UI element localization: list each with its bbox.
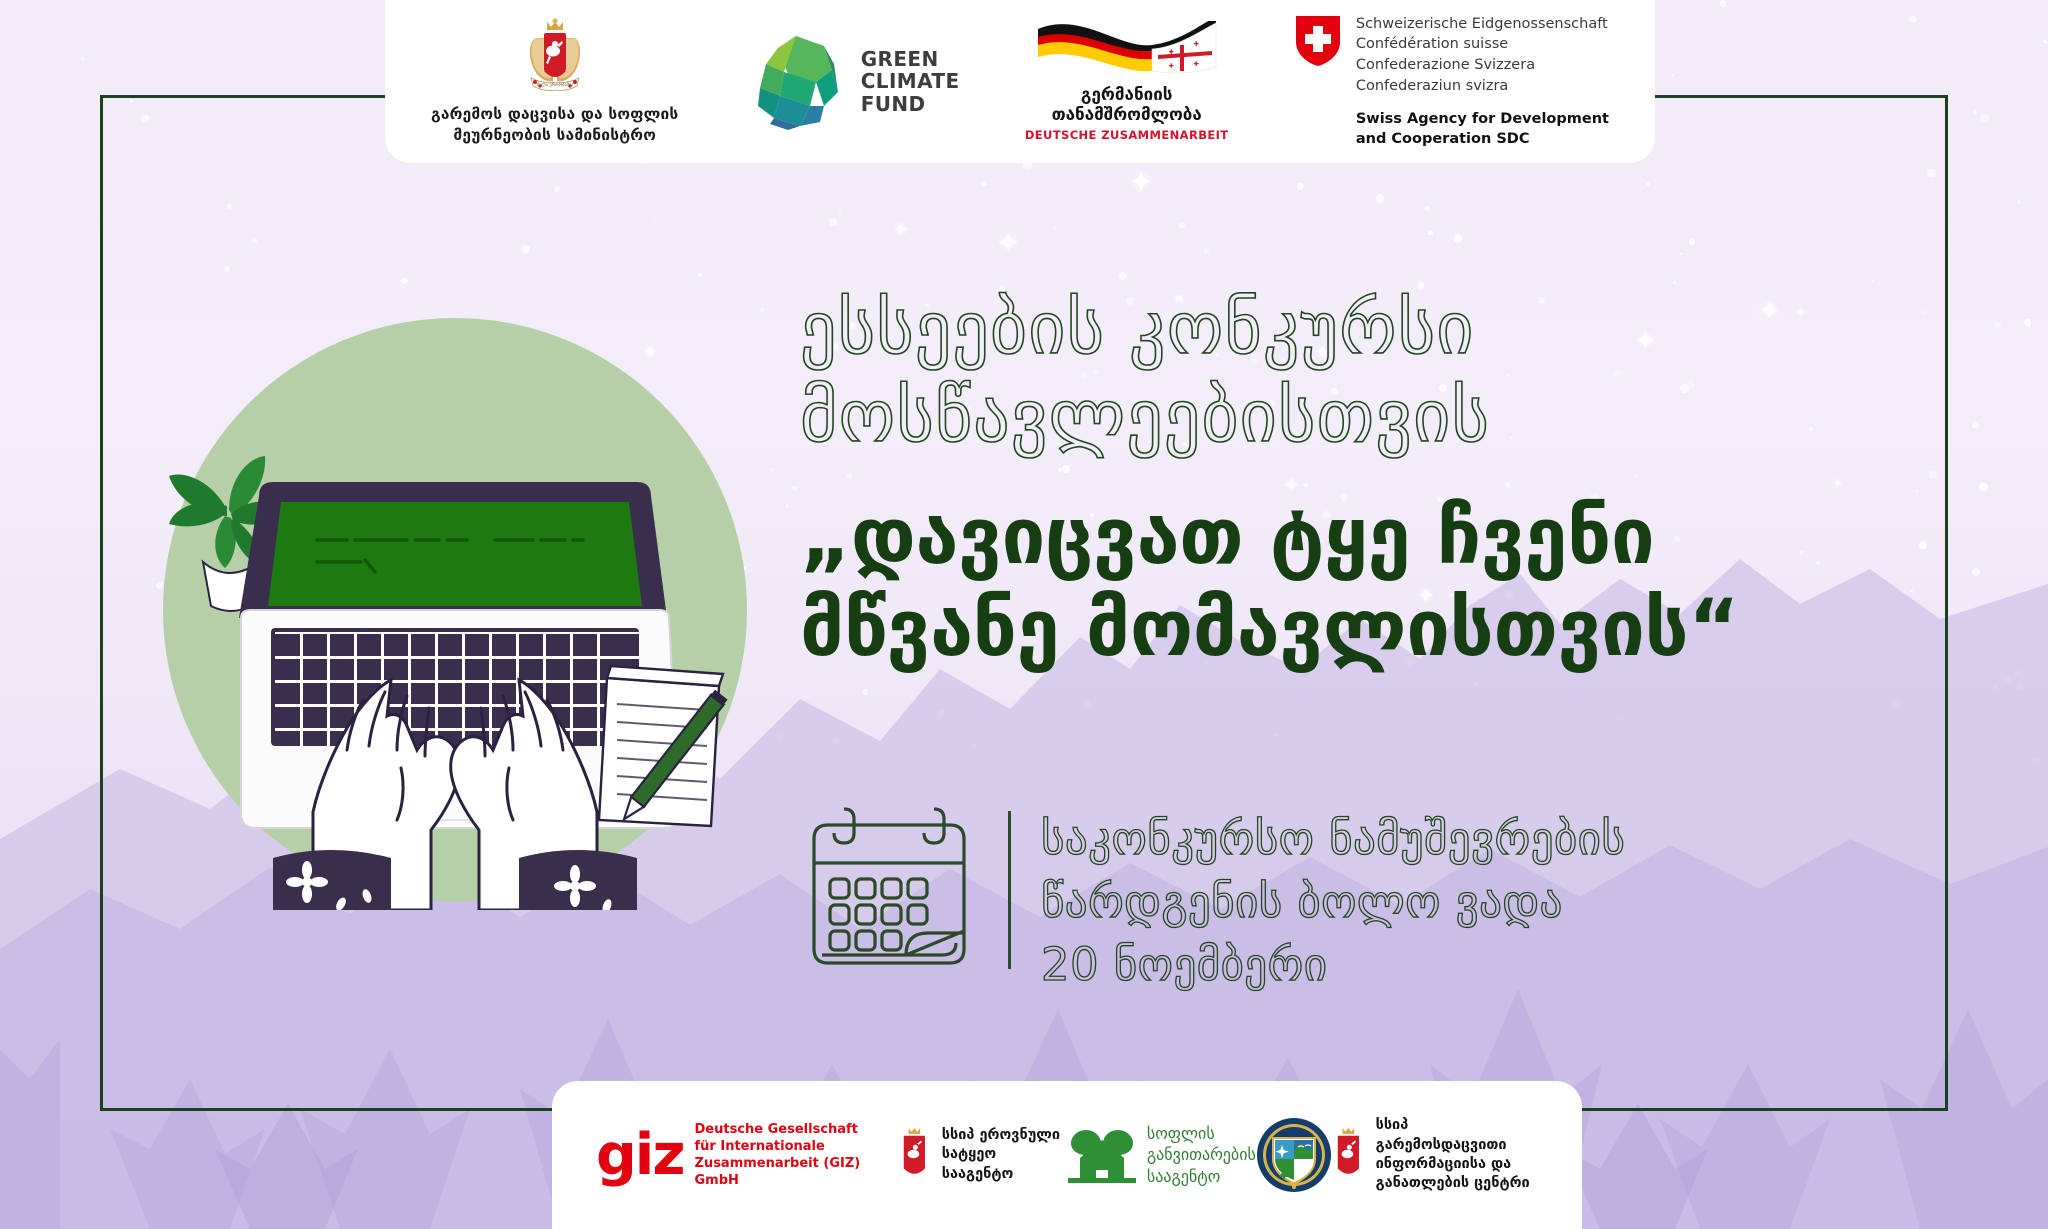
person-typing-on-laptop-illustration — [155, 310, 755, 910]
partner-logo-giz: giz Deutsche Gesellschaft für Internatio… — [596, 1121, 898, 1190]
swiss-line-de: Schweizerische Eidgenossenschaft — [1356, 14, 1609, 35]
german-cooperation-label-line1: გერმანიის — [1052, 85, 1202, 105]
swiss-agency-line2: and Cooperation SDC — [1356, 129, 1609, 149]
headline-text: „დავიცვათ ტყე ჩვენი მწვანე მომავლისთვის“ — [800, 491, 1940, 675]
german-cooperation-label-de: DEUTSCHE ZUSAMMENARBEIT — [1025, 128, 1229, 142]
trees-house-icon — [1068, 1126, 1136, 1184]
swiss-agency-name: Swiss Agency for Development and Coopera… — [1356, 109, 1609, 149]
deadline-line-2: წარდგენის ბოლო ვადა — [1041, 870, 1625, 933]
gcf-globe-icon — [744, 30, 848, 134]
german-cooperation-label-line2: თანამშრომლობა — [1052, 105, 1202, 125]
rda-line2: განვითარების — [1147, 1144, 1256, 1165]
svg-text:ძალა ერთობაშია: ძალა ერთობაშია — [536, 81, 574, 88]
eiec-line3: განათლების ცენტრი — [1376, 1174, 1538, 1193]
deadline-line-3: 20 ნოემბერი — [1041, 933, 1625, 996]
star-dot — [1720, 0, 1727, 7]
calendar-icon — [800, 805, 978, 977]
kicker-line-1: ესსეების კონკურსი — [800, 285, 1940, 373]
giz-sub-line3: Zusammenarbeit (GIZ) GmbH — [695, 1155, 899, 1189]
partner-label-ministry: გარემოს დაცვისა და სოფლისმეურნეობის სამი… — [431, 104, 678, 145]
star-dot — [1909, 16, 1917, 24]
deadline-text: საკონკურსო ნამუშევრების წარდგენის ბოლო ვ… — [1041, 805, 1625, 996]
partner-logo-environmental-information-education-centre: სსიპ გარემოსდაცვითი ინფორმაციისა და განა… — [1332, 1116, 1538, 1194]
swiss-line-fr: Confédération suisse — [1356, 34, 1609, 55]
swiss-line-rm: Confederaziun svizra — [1356, 76, 1609, 97]
national-forestry-agency-label: სსიპ ეროვნული სატყეო სააგენტო — [942, 1126, 1068, 1184]
georgia-coat-of-arms-icon: ძალა ერთობაშია — [523, 18, 587, 96]
gcf-wordmark: GREEN CLIMATE FUND — [861, 48, 960, 115]
giz-wordmark: giz — [596, 1132, 684, 1179]
partner-logo-german-cooperation: გერმანიის თანამშრომლობა DEUTSCHE ZUSAMME… — [1025, 21, 1229, 142]
eiec-label: სსიპ გარემოსდაცვითი ინფორმაციისა და განა… — [1376, 1116, 1538, 1194]
round-blue-seal-emblem-icon — [1256, 1117, 1332, 1193]
gcf-line-2: CLIMATE — [861, 70, 960, 92]
deadline-line-1: საკონკურსო ნამუშევრების — [1041, 807, 1625, 870]
notepad-and-pencil — [599, 666, 728, 826]
kicker-text: ესსეების კონკურსი მოსწავლეებისთვის — [800, 285, 1940, 461]
star-dot — [1994, 322, 2000, 328]
gcf-line-3: FUND — [861, 93, 960, 115]
partner-logo-rural-development-agency: სოფლის განვითარების სააგენტო — [1068, 1123, 1256, 1187]
giz-sub-line2: für Internationale — [695, 1138, 899, 1155]
star-dot — [80, 56, 85, 61]
headline-line-2: მწვანე მომავლისთვის“ — [800, 583, 1940, 675]
swiss-line-it: Confederazione Svizzera — [1356, 55, 1609, 76]
rda-line1: სოფლის — [1147, 1123, 1256, 1144]
headline-line-1: „დავიცვათ ტყე ჩვენი — [800, 491, 1940, 583]
swiss-cross-shield-icon — [1294, 14, 1342, 68]
star-dot — [2024, 319, 2031, 326]
star-dot — [1973, 110, 1977, 114]
partner-logo-ministry-of-environment-georgia: ძალა ერთობაშია გარემოს დაცვისა და სოფლის… — [431, 18, 678, 145]
rda-line3: სააგენტო — [1147, 1166, 1256, 1187]
georgia-shield-emblem-icon-2 — [1332, 1126, 1365, 1184]
eiec-line2: ინფორმაციისა და — [1376, 1155, 1538, 1174]
deadline-block: საკონკურსო ნამუშევრების წარდგენის ბოლო ვ… — [800, 805, 1625, 996]
star-dot — [1980, 114, 1989, 123]
gcf-line-1: GREEN — [861, 48, 960, 70]
main-copy-block: ესსეების კონკურსი მოსწავლეებისთვის „დავი… — [800, 285, 1940, 675]
star-dot — [1672, 74, 1675, 77]
footer-partner-logo-bar: giz Deutsche Gesellschaft für Internatio… — [552, 1081, 1582, 1229]
nfa-line2: სატყეო სააგენტო — [942, 1145, 1068, 1184]
georgia-shield-emblem-icon — [898, 1126, 931, 1184]
kicker-line-2: მოსწავლეებისთვის — [800, 373, 1940, 461]
star-dot — [2017, 200, 2021, 204]
giz-sub-line1: Deutsche Gesellschaft — [695, 1121, 899, 1138]
nfa-line1: სსიპ ეროვნული — [942, 1126, 1068, 1145]
partner-logo-green-climate-fund: GREEN CLIMATE FUND — [744, 30, 960, 134]
partner-logo-ajara-forestry-agency — [1256, 1117, 1332, 1193]
eiec-line1: სსიპ გარემოსდაცვითი — [1376, 1116, 1538, 1155]
partner-logo-national-forestry-agency: სსიპ ეროვნული სატყეო სააგენტო — [898, 1126, 1068, 1184]
germany-georgia-flag-ribbon-icon — [1032, 21, 1222, 85]
german-cooperation-label-ka: გერმანიის თანამშრომლობა — [1052, 85, 1202, 125]
deadline-divider — [1008, 811, 1011, 969]
swiss-language-lines: Schweizerische Eidgenossenschaft Confédé… — [1356, 14, 1609, 96]
header-partner-logo-bar: ძალა ერთობაშია გარემოს დაცვისა და სოფლის… — [385, 0, 1655, 163]
giz-subtitle: Deutsche Gesellschaft für Internationale… — [695, 1121, 899, 1190]
rural-development-agency-label: სოფლის განვითარების სააგენტო — [1147, 1123, 1256, 1187]
partner-logo-swiss-agency-sdc: Schweizerische Eidgenossenschaft Confédé… — [1294, 14, 1609, 149]
swiss-agency-line1: Swiss Agency for Development — [1356, 109, 1609, 129]
